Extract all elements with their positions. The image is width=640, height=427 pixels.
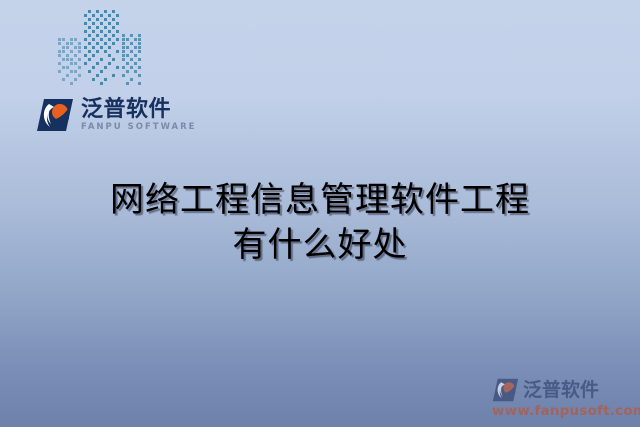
headline-line-1: 网络工程信息管理软件工程 (0, 178, 640, 223)
page-title: 网络工程信息管理软件工程 有什么好处 (0, 178, 640, 268)
pixel-city-skyline-icon (58, 10, 142, 88)
watermark-url: www.fanpusoft.com (492, 404, 632, 419)
brand-name-cn: 泛普软件 (81, 99, 197, 121)
watermark: 泛普软件 www.fanpusoft.com (492, 377, 632, 419)
headline-line-2: 有什么好处 (0, 223, 640, 268)
promo-banner: 泛普软件 FANPU SOFTWARE 网络工程信息管理软件工程 有什么好处 泛… (0, 0, 640, 427)
fanpu-hexagon-swoosh-logo-icon (492, 378, 519, 402)
brand-name-en: FANPU SOFTWARE (81, 123, 197, 132)
watermark-name-cn: 泛普软件 (523, 381, 599, 400)
watermark-logo-row: 泛普软件 (492, 377, 632, 403)
brand-logo: 泛普软件 FANPU SOFTWARE (36, 94, 197, 136)
fanpu-hexagon-swoosh-logo-icon (36, 98, 74, 132)
brand-text: 泛普软件 FANPU SOFTWARE (81, 99, 197, 132)
